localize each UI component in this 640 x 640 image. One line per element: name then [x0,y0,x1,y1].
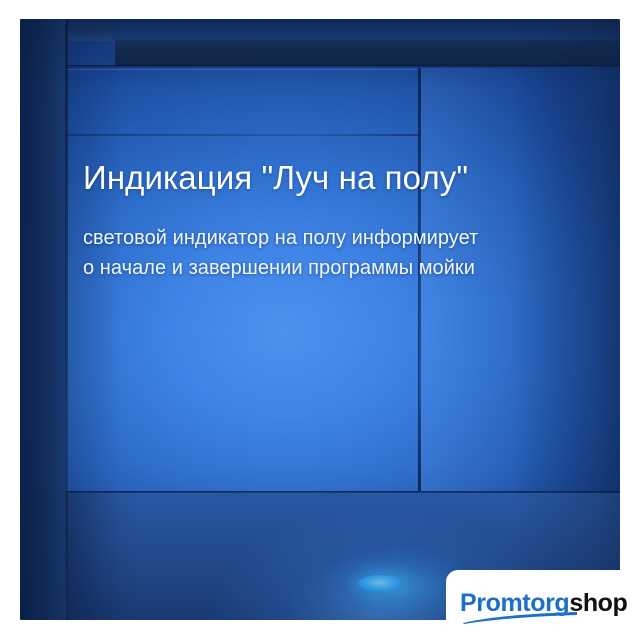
promo-subtitle-line-2: о начале и завершении программы мойки [83,257,475,279]
brand-logo[interactable]: Promtorgshop [446,570,640,640]
photo-vignette [20,19,620,620]
promo-copy: Индикация "Луч на полу" световой индикат… [83,159,603,283]
logo-wrap: Promtorgshop [460,589,627,621]
page-title: Индикация "Луч на полу" [83,159,603,197]
promo-card: Индикация "Луч на полу" световой индикат… [0,0,640,640]
product-photo: Индикация "Луч на полу" световой индикат… [20,19,620,620]
logo-swoosh-icon [462,612,578,624]
promo-subtitle: световой индикатор на полу информирует о… [83,197,603,283]
logo-text-secondary: shop [569,589,627,617]
promo-subtitle-line-1: световой индикатор на полу информирует [83,227,478,249]
